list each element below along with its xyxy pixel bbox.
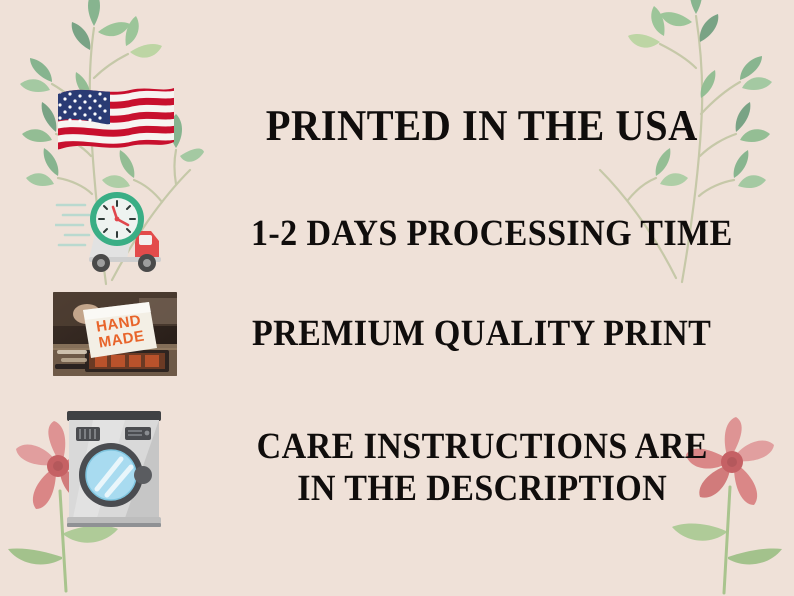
feature-text-cell-quality: PREMIUM QUALITY PRINT: [230, 313, 794, 355]
feature-row-usa: PRINTED IN THE USA: [0, 78, 794, 174]
feature-row-care: CARE INSTRUCTIONS ARE IN THE DESCRIPTION: [0, 398, 794, 538]
feature-text-cell-usa: PRINTED IN THE USA: [230, 101, 794, 151]
american-flag-icon: [52, 80, 178, 172]
feature-row-quality: HAND MADE PREMIUM QUALITY PRINT: [0, 288, 794, 380]
screen-print-photo-icon: HAND MADE: [53, 292, 177, 376]
feature-icon-cell-usa: [0, 80, 230, 172]
feature-icon-cell-quality: HAND MADE: [0, 292, 230, 376]
fast-delivery-clock-icon: [55, 189, 175, 279]
feature-headline-care-line2: IN THE DESCRIPTION: [297, 468, 667, 509]
feature-headline-care-line1: CARE INSTRUCTIONS ARE: [256, 426, 707, 467]
feature-text-cell-processing: 1-2 DAYS PROCESSING TIME: [230, 213, 794, 255]
feature-headline-processing: 1-2 DAYS PROCESSING TIME: [251, 213, 733, 255]
feature-icon-cell-care: [0, 407, 230, 529]
feature-headline-quality: PREMIUM QUALITY PRINT: [252, 313, 711, 355]
feature-row-processing: 1-2 DAYS PROCESSING TIME: [0, 188, 794, 280]
feature-icon-cell-processing: [0, 189, 230, 279]
feature-headline-care: CARE INSTRUCTIONS ARE IN THE DESCRIPTION: [256, 426, 707, 510]
washing-machine-icon: [63, 407, 167, 529]
feature-headline-usa: PRINTED IN THE USA: [266, 101, 698, 151]
feature-text-cell-care: CARE INSTRUCTIONS ARE IN THE DESCRIPTION: [230, 426, 794, 510]
info-graphic-canvas: PRINTED IN THE USA: [0, 0, 794, 596]
